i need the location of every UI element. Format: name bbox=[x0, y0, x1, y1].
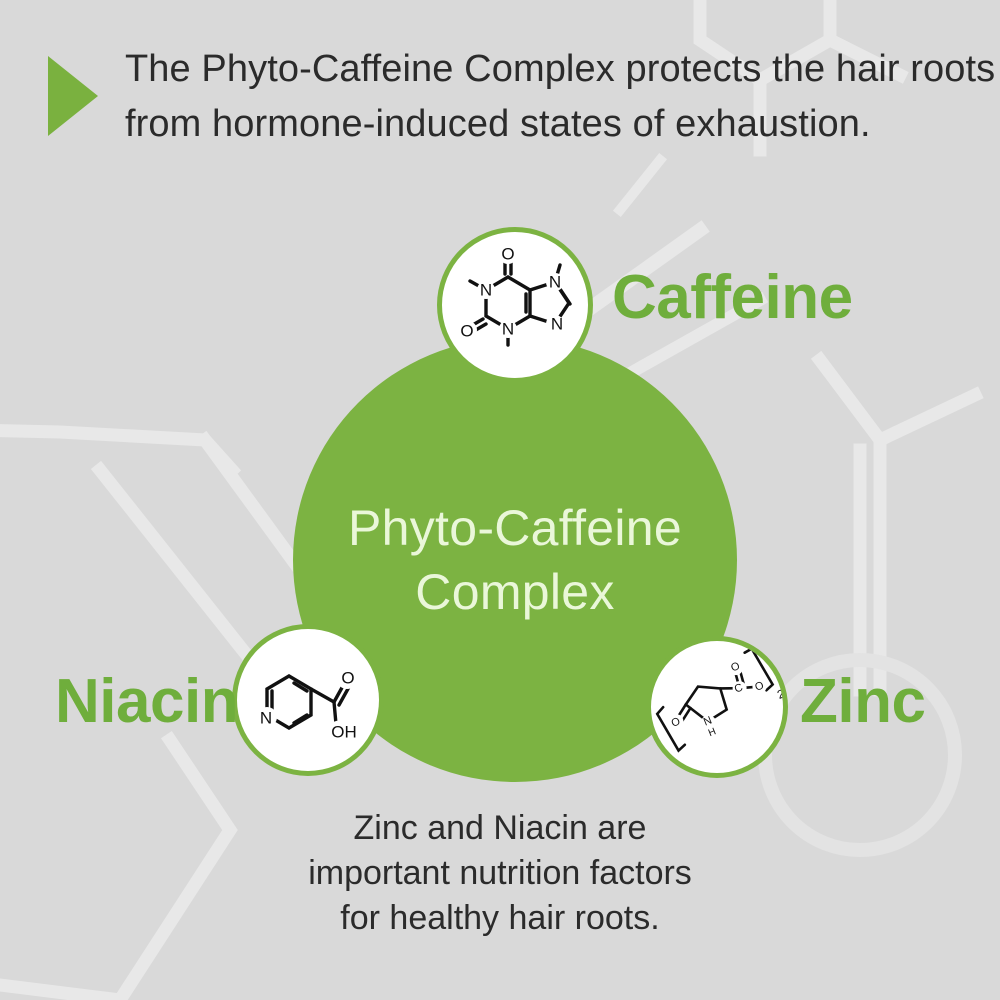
svg-text:OH: OH bbox=[331, 723, 357, 742]
footer-line-2: important nutrition factors bbox=[250, 851, 750, 896]
svg-text:2: 2 bbox=[775, 686, 783, 702]
svg-text:Zn: Zn bbox=[738, 641, 756, 646]
header-line-1: The Phyto-Caffeine Complex protects the … bbox=[125, 42, 955, 97]
header-banner: The Phyto-Caffeine Complex protects the … bbox=[0, 42, 1000, 172]
footer-line-3: for healthy hair roots. bbox=[250, 896, 750, 941]
svg-text:N: N bbox=[260, 709, 272, 728]
center-title-line-1: Phyto-Caffeine bbox=[348, 496, 682, 560]
footer-line-1: Zinc and Niacin are bbox=[250, 806, 750, 851]
svg-text:N: N bbox=[480, 281, 492, 300]
nutrient-label-zinc: Zinc bbox=[800, 666, 925, 737]
niacin-molecule-icon: N O OH bbox=[237, 629, 379, 771]
center-title-line-2: Complex bbox=[415, 560, 614, 624]
footer-caption: Zinc and Niacin are important nutrition … bbox=[250, 806, 750, 941]
svg-text:N: N bbox=[502, 320, 514, 339]
niacin-molecule-bubble: N O OH bbox=[232, 624, 384, 776]
svg-text:O: O bbox=[501, 245, 514, 264]
svg-text:O: O bbox=[460, 322, 473, 341]
zinc-molecule-icon: N H O O O C 2 Zn 2+ bbox=[651, 641, 783, 773]
svg-text:N: N bbox=[549, 273, 561, 292]
caffeine-molecule-bubble: N N N N O O bbox=[437, 227, 593, 383]
svg-text:H: H bbox=[707, 726, 718, 739]
play-triangle-icon bbox=[48, 56, 98, 136]
svg-text:O: O bbox=[341, 669, 354, 688]
caffeine-molecule-icon: N N N N O O bbox=[442, 232, 588, 378]
header-line-2: from hormone-induced states of exhaustio… bbox=[125, 97, 955, 152]
infographic-canvas: The Phyto-Caffeine Complex protects the … bbox=[0, 0, 1000, 1000]
nutrient-label-niacin: Niacin bbox=[55, 666, 238, 737]
svg-text:N: N bbox=[551, 315, 563, 334]
header-statement: The Phyto-Caffeine Complex protects the … bbox=[125, 42, 955, 152]
zinc-molecule-bubble: N H O O O C 2 Zn 2+ bbox=[646, 636, 788, 778]
nutrient-label-caffeine: Caffeine bbox=[612, 262, 853, 333]
